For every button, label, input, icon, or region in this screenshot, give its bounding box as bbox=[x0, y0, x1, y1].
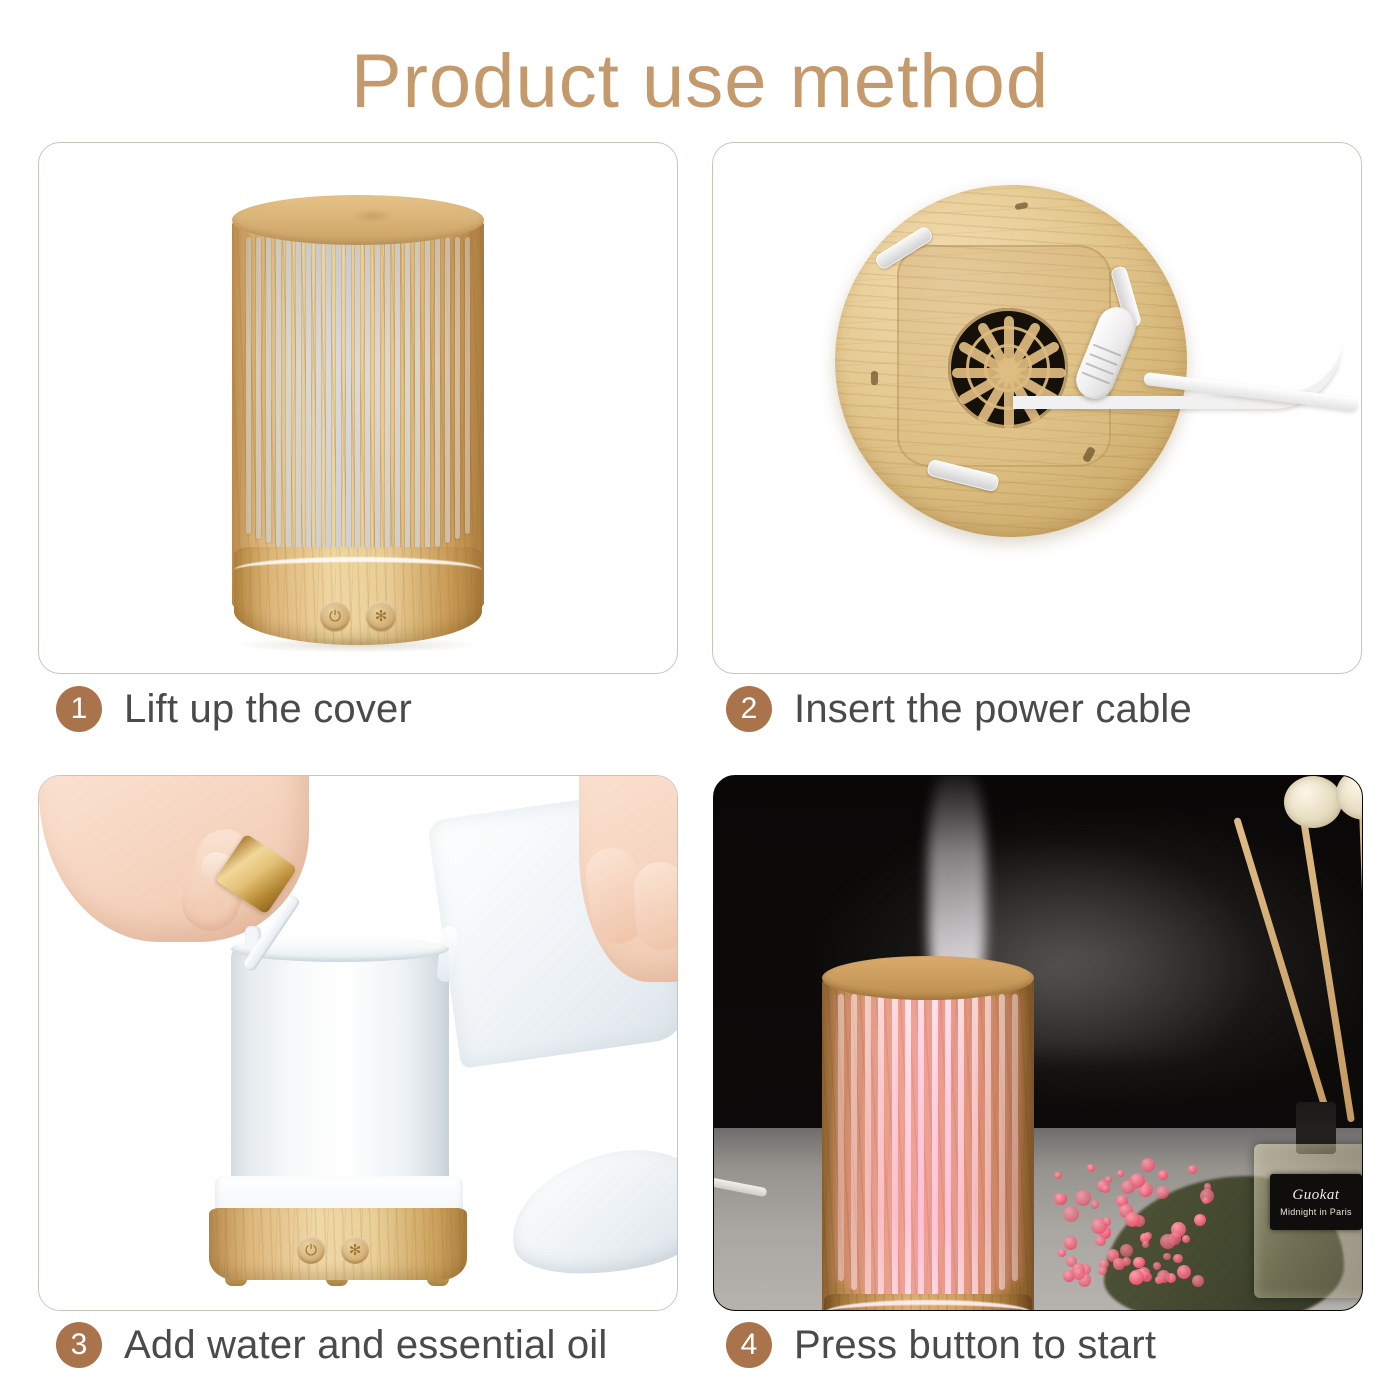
vent-slot bbox=[355, 237, 360, 565]
glowing-slot bbox=[999, 994, 1005, 1290]
reed-diffuser-sticks bbox=[1274, 782, 1362, 1122]
light-icon: ✻ bbox=[375, 609, 388, 624]
berry bbox=[1156, 1186, 1169, 1199]
berry bbox=[1141, 1158, 1155, 1172]
plug-rib bbox=[1085, 362, 1114, 375]
vent-slot bbox=[266, 237, 271, 543]
vent-slot bbox=[336, 237, 341, 564]
vent-slot bbox=[395, 237, 400, 560]
page-title: Product use method bbox=[0, 38, 1400, 125]
step-4-image-panel: Guokat Midnight in Paris bbox=[713, 775, 1363, 1311]
vent-slot bbox=[346, 237, 351, 565]
glowing-slot bbox=[838, 994, 844, 1281]
bottle-brand-name: Guokat bbox=[1292, 1187, 1339, 1204]
berry bbox=[1157, 1270, 1170, 1283]
diffuser-unit bbox=[822, 956, 1034, 1310]
essential-oil-dropper bbox=[207, 812, 327, 972]
step-label: Lift up the cover bbox=[124, 687, 412, 732]
glowing-slot bbox=[892, 994, 898, 1310]
drop-shadow bbox=[233, 637, 483, 653]
berry bbox=[1188, 1165, 1197, 1174]
vent-slot-group bbox=[246, 237, 470, 575]
base-highlight-ring bbox=[234, 557, 482, 583]
glowing-slot bbox=[958, 994, 964, 1310]
plug-rib bbox=[1082, 371, 1111, 384]
glowing-slot bbox=[985, 994, 991, 1298]
diffuser-bottom-illustration bbox=[713, 143, 1361, 673]
vent-slot bbox=[385, 237, 390, 562]
rattan-ball bbox=[1336, 776, 1362, 820]
step-label: Add water and essential oil bbox=[124, 1323, 607, 1368]
power-button[interactable]: ⏻ bbox=[320, 601, 350, 631]
berry bbox=[1117, 1170, 1124, 1177]
glowing-slot-group bbox=[838, 994, 1018, 1310]
glowing-slot bbox=[932, 994, 938, 1310]
reed-stick bbox=[1296, 794, 1355, 1123]
step-3-caption: 3 Add water and essential oil bbox=[56, 1322, 607, 1368]
berry bbox=[1091, 1200, 1100, 1209]
vent-slot bbox=[326, 237, 331, 562]
bottle-label: Guokat Midnight in Paris bbox=[1270, 1174, 1362, 1230]
vent-slot bbox=[465, 237, 470, 534]
step-number-badge: 1 bbox=[56, 686, 102, 732]
berry bbox=[1064, 1236, 1078, 1250]
wood-grain-texture bbox=[209, 1208, 467, 1280]
removed-cover-lid bbox=[499, 1134, 678, 1292]
infographic-page: Product use method ⏻ ✻ bbox=[0, 0, 1400, 1400]
step-2-image-panel bbox=[712, 142, 1362, 674]
berry bbox=[1054, 1172, 1062, 1180]
bottle-scent-name: Midnight in Paris bbox=[1280, 1207, 1352, 1217]
vent-slot bbox=[445, 237, 450, 543]
berry bbox=[1113, 1258, 1124, 1269]
berry bbox=[1103, 1217, 1112, 1226]
glowing-slot bbox=[972, 994, 978, 1306]
berry bbox=[1182, 1235, 1190, 1243]
vent-slot bbox=[415, 237, 420, 554]
power-button[interactable]: ⏻ bbox=[297, 1236, 325, 1264]
step-number-badge: 2 bbox=[726, 686, 772, 732]
plug-rib bbox=[1093, 344, 1122, 357]
vent-slot bbox=[276, 237, 281, 547]
glowing-slot bbox=[945, 994, 951, 1310]
vent-slot bbox=[425, 237, 430, 551]
step-number-badge: 4 bbox=[726, 1322, 772, 1368]
diffuser-base: ⏻ ✻ bbox=[234, 547, 482, 645]
diffuser-cover-top bbox=[232, 195, 484, 245]
berry bbox=[1163, 1253, 1171, 1261]
berry bbox=[1054, 1193, 1067, 1206]
berry bbox=[1140, 1187, 1151, 1198]
berry bbox=[1095, 1236, 1105, 1246]
perfume-bottle: Guokat Midnight in Paris bbox=[1254, 1098, 1362, 1298]
glowing-slot bbox=[865, 994, 871, 1298]
step-label: Press button to start bbox=[794, 1323, 1156, 1368]
rattan-ball bbox=[1284, 776, 1342, 828]
berry bbox=[1130, 1173, 1145, 1188]
step-number-badge: 3 bbox=[56, 1322, 102, 1368]
vent-slot bbox=[286, 237, 291, 551]
power-icon: ⏻ bbox=[329, 609, 341, 624]
step-1-image-panel: ⏻ ✻ bbox=[38, 142, 678, 674]
diffuser-base bbox=[824, 1294, 1032, 1310]
vent-slot bbox=[365, 237, 370, 565]
berry bbox=[1158, 1170, 1168, 1180]
light-button[interactable]: ✻ bbox=[366, 601, 396, 631]
diffuser-unit: ⏻ ✻ bbox=[232, 195, 484, 645]
power-icon: ⏻ bbox=[305, 1243, 317, 1258]
vent-slot bbox=[435, 237, 440, 547]
berry bbox=[1063, 1206, 1079, 1222]
vent-slot bbox=[405, 237, 410, 557]
glowing-slot bbox=[1012, 994, 1018, 1281]
glowing-slot bbox=[878, 994, 884, 1306]
diffuser-cylinder bbox=[822, 978, 1034, 1310]
berry bbox=[1058, 1249, 1066, 1257]
diffuser-closed-illustration: ⏻ ✻ bbox=[39, 143, 677, 673]
berry bbox=[1202, 1197, 1210, 1205]
vent-slot bbox=[316, 237, 321, 560]
light-icon: ✻ bbox=[349, 1243, 362, 1258]
glowing-slot bbox=[918, 994, 924, 1310]
step-label: Insert the power cable bbox=[794, 687, 1192, 732]
berry bbox=[1173, 1254, 1183, 1264]
vent-slot bbox=[455, 237, 460, 539]
fill-tank-illustration: ⏻ ✻ bbox=[39, 776, 677, 1310]
diffuser-top bbox=[822, 956, 1034, 1000]
berry bbox=[1087, 1164, 1095, 1172]
step-1-caption: 1 Lift up the cover bbox=[56, 686, 412, 732]
plug-rib bbox=[1089, 353, 1118, 366]
step-4-caption: 4 Press button to start bbox=[726, 1322, 1156, 1368]
berry bbox=[1075, 1190, 1091, 1206]
step-3-image-panel: ⏻ ✻ bbox=[38, 775, 678, 1311]
reed-stick bbox=[1359, 796, 1362, 1122]
glowing-slot bbox=[851, 994, 857, 1290]
vent-slot bbox=[296, 237, 301, 554]
light-button[interactable]: ✻ bbox=[341, 1236, 369, 1264]
berry bbox=[1102, 1185, 1110, 1193]
vent-slot bbox=[246, 237, 251, 534]
diffuser-base: ⏻ ✻ bbox=[209, 1208, 467, 1280]
finger bbox=[633, 861, 678, 952]
small-vent-hole bbox=[871, 371, 878, 385]
berry bbox=[1098, 1266, 1107, 1275]
glowing-slot bbox=[905, 994, 911, 1310]
vent-slot bbox=[256, 237, 261, 539]
vent-slot bbox=[375, 237, 380, 564]
diffuser-running-scene: Guokat Midnight in Paris bbox=[714, 776, 1362, 1310]
vent-slot bbox=[306, 237, 311, 557]
step-2-caption: 2 Insert the power cable bbox=[726, 686, 1192, 732]
